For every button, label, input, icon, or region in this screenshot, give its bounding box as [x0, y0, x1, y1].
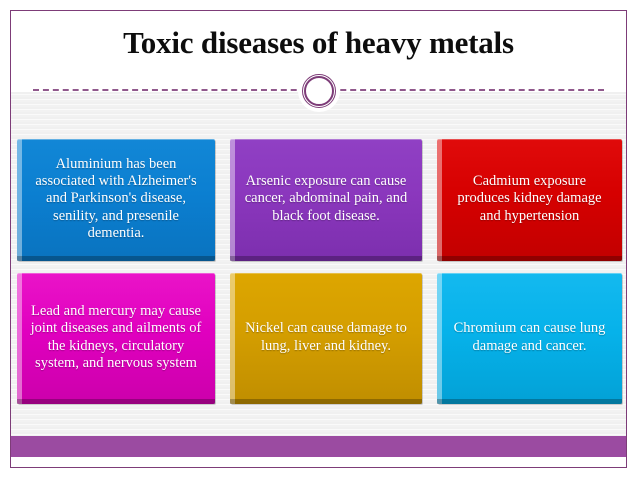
- bottom-accent-bar: [11, 436, 626, 457]
- card-nickel[interactable]: Nickel can cause damage to lung, liver a…: [230, 273, 422, 404]
- card-chromium[interactable]: Chromium can cause lung damage and cance…: [437, 273, 622, 404]
- slide-canvas: Toxic diseases of heavy metals Aluminium…: [10, 10, 627, 468]
- card-lead-mercury-text: Lead and mercury may cause joint disease…: [26, 303, 206, 372]
- card-lead-mercury[interactable]: Lead and mercury may cause joint disease…: [17, 273, 215, 404]
- card-cadmium[interactable]: Cadmium exposure produces kidney damage …: [437, 139, 622, 261]
- card-cadmium-text: Cadmium exposure produces kidney damage …: [446, 173, 613, 225]
- card-aluminium-text: Aluminium has been associated with Alzhe…: [26, 156, 206, 242]
- metal-card-grid: Aluminium has been associated with Alzhe…: [17, 139, 622, 404]
- circle-ring-ornament-icon: [302, 74, 336, 108]
- ring-inner: [304, 76, 334, 106]
- card-arsenic-text: Arsenic exposure can cause cancer, abdom…: [239, 173, 413, 225]
- card-aluminium[interactable]: Aluminium has been associated with Alzhe…: [17, 139, 215, 261]
- page-title: Toxic diseases of heavy metals: [11, 25, 626, 61]
- card-arsenic[interactable]: Arsenic exposure can cause cancer, abdom…: [230, 139, 422, 261]
- card-nickel-text: Nickel can cause damage to lung, liver a…: [239, 320, 413, 355]
- card-chromium-text: Chromium can cause lung damage and cance…: [446, 320, 613, 355]
- bottom-margin: [11, 457, 626, 467]
